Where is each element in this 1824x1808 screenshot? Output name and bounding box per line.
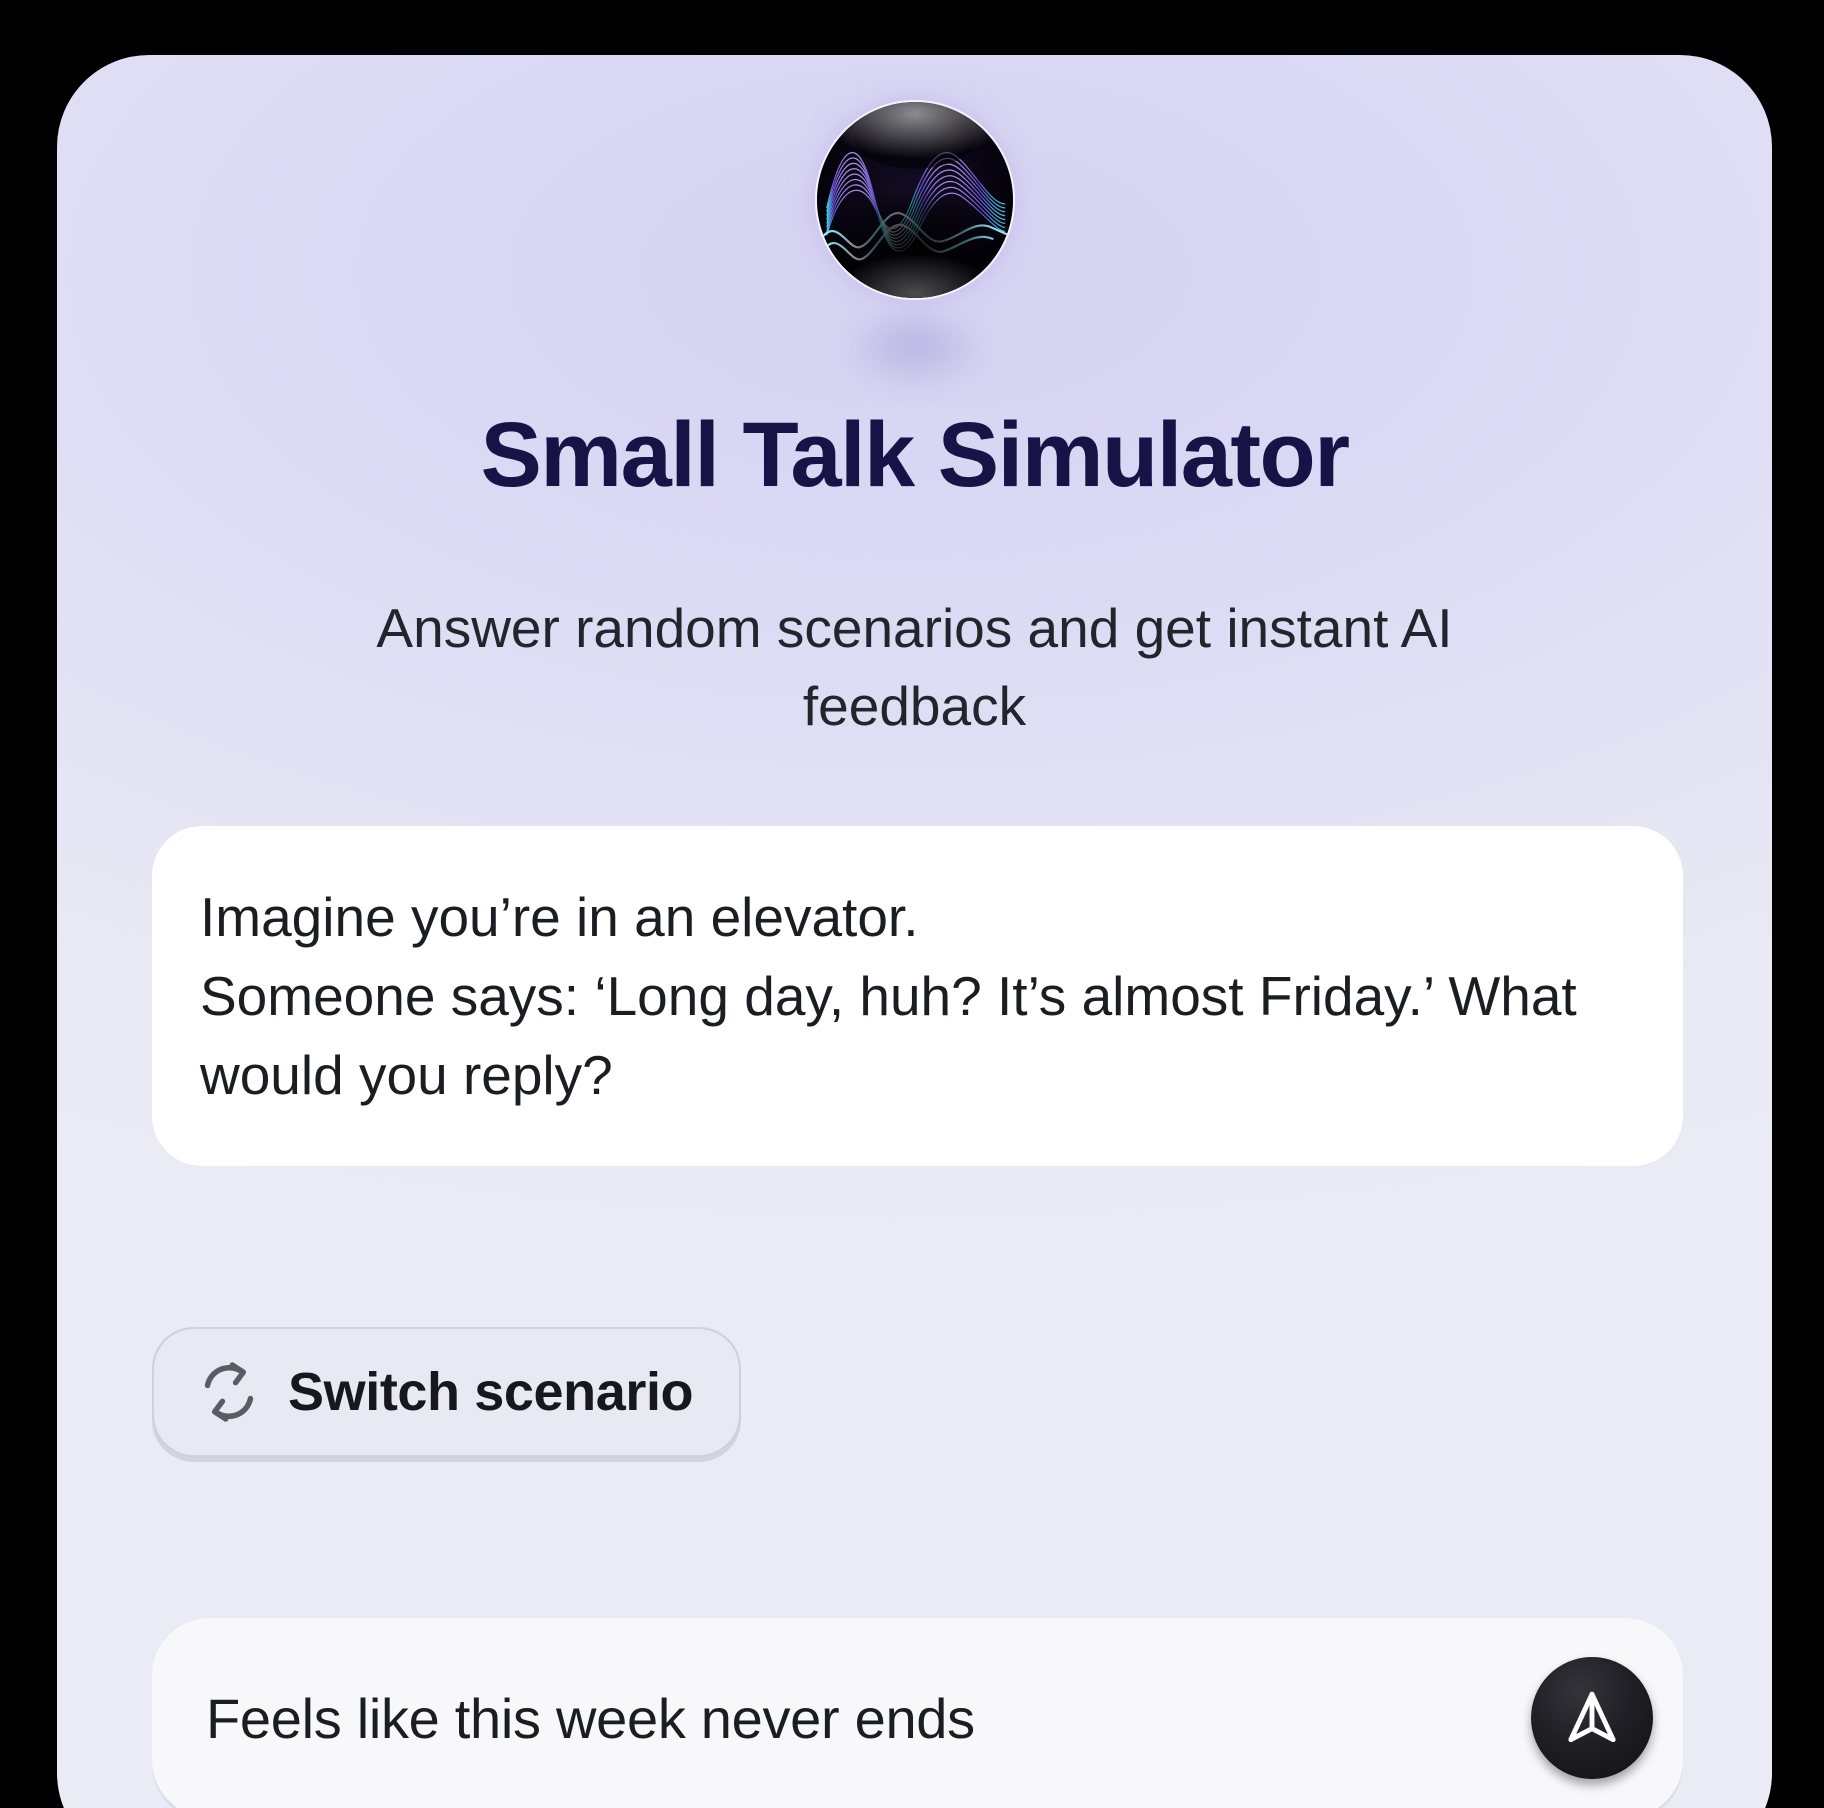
page-title: Small Talk Simulator (57, 407, 1772, 504)
audio-wave-orb-icon (817, 102, 1013, 298)
switch-scenario-button[interactable]: Switch scenario (152, 1327, 741, 1457)
scenario-text: Imagine you’re in an elevator. Someone s… (200, 878, 1627, 1116)
switch-scenario-label: Switch scenario (288, 1361, 693, 1423)
scenario-card: Imagine you’re in an elevator. Someone s… (152, 826, 1683, 1166)
composer-bar (152, 1618, 1683, 1808)
reply-input[interactable] (206, 1686, 1531, 1751)
app-logo (57, 102, 1772, 332)
app-root: Small Talk Simulator Answer random scena… (0, 0, 1824, 1808)
app-card: Small Talk Simulator Answer random scena… (57, 55, 1772, 1808)
orb-drop-shadow (840, 314, 990, 394)
page-subtitle: Answer random scenarios and get instant … (272, 589, 1557, 745)
send-button[interactable] (1531, 1657, 1653, 1779)
refresh-cycle-icon (196, 1359, 262, 1425)
send-navigation-arrow-icon (1561, 1687, 1623, 1749)
